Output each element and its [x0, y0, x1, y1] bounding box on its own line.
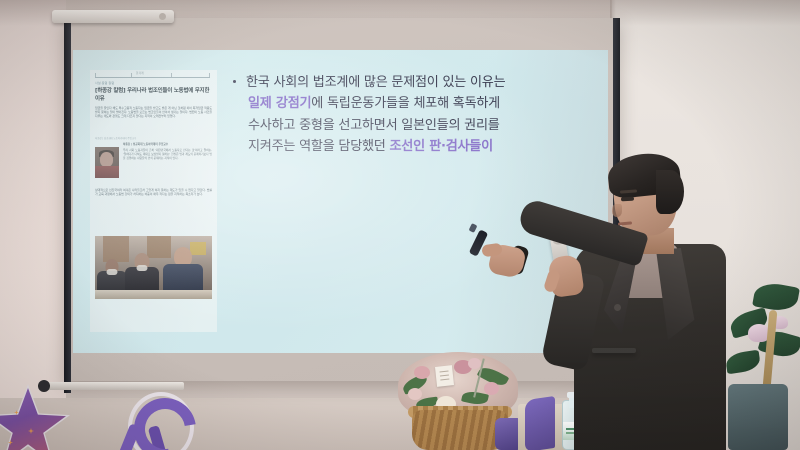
article-figure-caption: 하종강 | 성공회대 노동아카데미 주임교수 [123, 143, 212, 146]
article-top-rule [95, 77, 210, 78]
article-figure: 하종강 | 성공회대 노동아카데미 주임교수 우리 사회 노동자들이 흔히 '대… [95, 143, 212, 185]
columnist-portrait [95, 147, 119, 178]
screen-roller-housing [52, 10, 174, 23]
press-conference-photo [95, 236, 212, 299]
slide-line-3: 수사하고 중형을 선고하면서 일본인들의 권리를 [246, 115, 593, 136]
article-paragraph-1: 임금을 줄인다 해도 특수고용직 노동자는 임금을 받고도 받은 게 아닌 것처… [95, 106, 212, 118]
slide-line-1: 한국 사회의 법조계에 많은 문제점이 있는 이유는 [246, 72, 593, 93]
slide-bullet-block: 한국 사회의 법조계에 많은 문제점이 있는 이유는 일제 강점기에 독립운동가… [233, 72, 593, 157]
slide-bullet-lines: 한국 사회의 법조계에 많은 문제점이 있는 이유는 일제 강점기에 독립운동가… [246, 72, 593, 157]
slide-line-2: 일제 강점기에 독립운동가들을 체포해 혹독하게 [246, 93, 593, 114]
bouquet-message-card [435, 365, 454, 387]
purple-ribbon-decoration [118, 398, 190, 450]
article-masthead-note: 한겨레 [136, 71, 144, 75]
slide-highlight-text: 일제 강점기 [248, 96, 311, 111]
article-byline: 하종강 | 성공회대 노동아카데미 주임교수 [95, 136, 136, 140]
bullet-marker-icon [233, 80, 236, 83]
slide-plain-text: 수사하고 중형을 선고하면서 일본인들의 권리를 [248, 118, 500, 133]
orchid-plant [726, 276, 800, 450]
slide-plain-text: 지켜주는 역할을 담당했던 [248, 139, 390, 154]
presenter [496, 152, 726, 450]
newspaper-column-screenshot: 한겨레 사설·칼럼 칼럼 [하종강 칼럼] 우리나라 법조인들이 노동법에 무지… [90, 70, 217, 332]
article-kicker: 사설·칼럼 칼럼 [95, 81, 114, 85]
screen-left-edge [64, 18, 71, 393]
slide-plain-text: 한국 사회의 법조계에 많은 문제점이 있는 이유는 [246, 75, 505, 90]
article-headline: [하종강 칼럼] 우리나라 법조인들이 노동법에 무지한 이유 [95, 87, 213, 103]
screen-bottom-bar [44, 382, 184, 390]
article-figure-text: 우리 사회 노동자들이 흔히 '대한민국에서 노동자로 산다는 것'이라고 말하… [123, 149, 212, 161]
plant-pot [728, 384, 788, 450]
slide-plain-text: 에 독립운동가들을 체포해 혹독하게 [311, 96, 500, 111]
wicker-basket [412, 410, 508, 450]
slide-highlight-text: 조선인 판·검사들이 [390, 139, 493, 154]
lecture-room-photo: 한겨레 사설·칼럼 칼럼 [하종강 칼럼] 우리나라 법조인들이 노동법에 무지… [0, 0, 800, 450]
article-paragraph-2: 상대적으로 선진국이라 여겨온 나라들조차 그렇게 하지 못하는 제도가 있을 … [95, 188, 212, 196]
article-rule-ticks [95, 73, 210, 79]
